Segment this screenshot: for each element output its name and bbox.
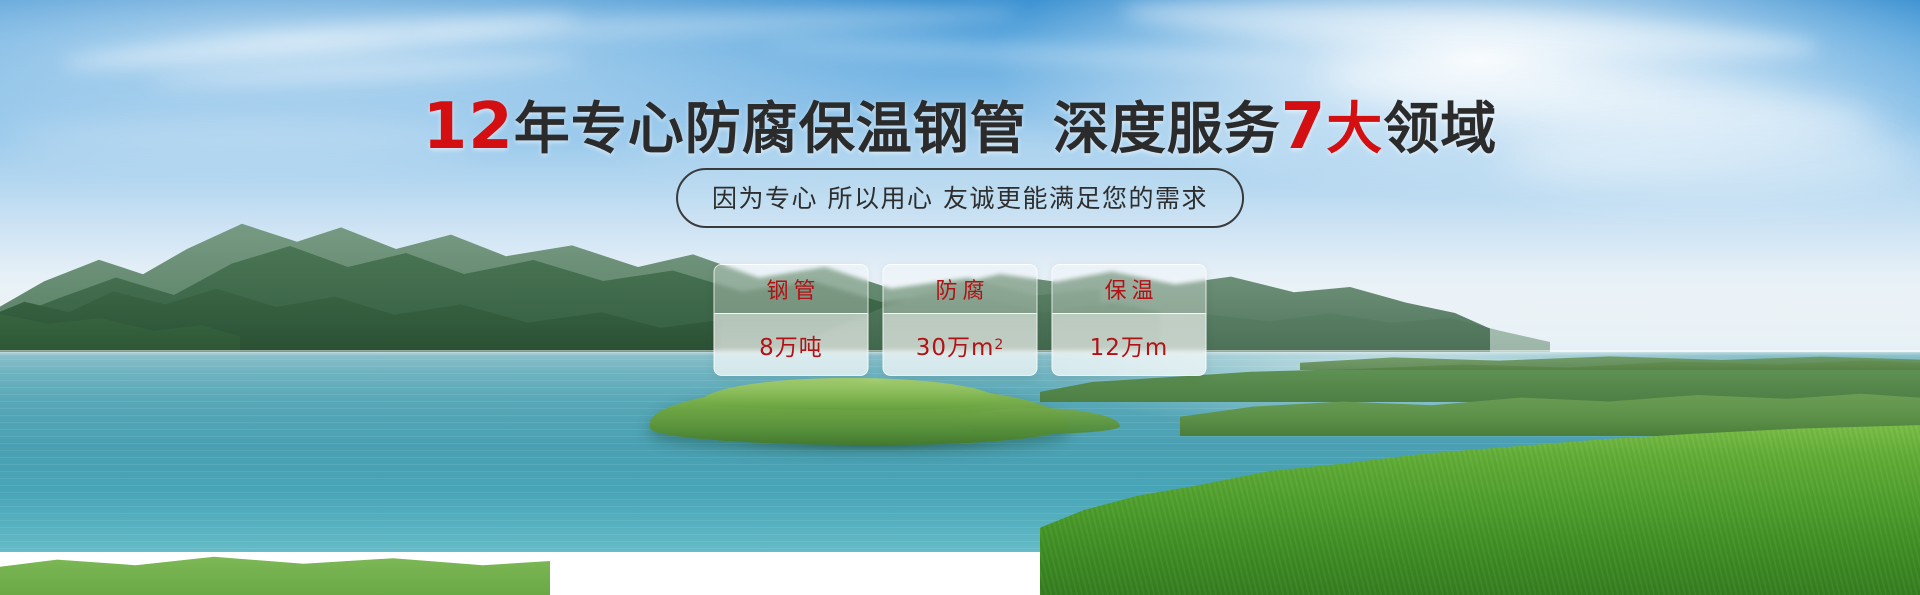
headline-segment-one: 年专心防腐保温钢管 (514, 97, 1027, 162)
stat-card-title: 保温 (1053, 265, 1206, 314)
stat-card-insulation: 保温 12万m (1052, 264, 1207, 376)
subtitle-pill: 因为专心 所以用心 友诚更能满足您的需求 (676, 168, 1244, 228)
stat-card-value: 8万吨 (715, 314, 868, 375)
headline: 12年专心防腐保温钢管深度服务7大领域 (0, 84, 1920, 165)
stat-value-text: 30万m (916, 328, 995, 362)
stat-card-title: 防腐 (884, 265, 1037, 314)
headline-years-number: 12 (423, 90, 514, 164)
stat-value-superscript: 2 (994, 337, 1004, 353)
headline-segment-three: 大 (1326, 97, 1383, 162)
stat-value-text: 12万m (1090, 328, 1169, 362)
headline-domains-number: 7 (1281, 90, 1327, 164)
hero-banner: 12年专心防腐保温钢管深度服务7大领域 因为专心 所以用心 友诚更能满足您的需求… (0, 0, 1920, 595)
stat-card-title: 钢管 (715, 265, 868, 314)
headline-segment-two: 深度服务 (1053, 97, 1281, 162)
stat-card-anticorrosion: 防腐 30万m2 (883, 264, 1038, 376)
headline-segment-four: 领域 (1383, 97, 1497, 162)
stat-card-steel-pipe: 钢管 8万吨 (714, 264, 869, 376)
banner-content: 12年专心防腐保温钢管深度服务7大领域 因为专心 所以用心 友诚更能满足您的需求… (0, 0, 1920, 595)
stat-card-group: 钢管 8万吨 防腐 30万m2 保温 12万m (714, 264, 1207, 376)
stat-card-value: 30万m2 (884, 314, 1037, 375)
stat-card-value: 12万m (1053, 314, 1206, 375)
stat-value-text: 8万吨 (759, 328, 823, 362)
